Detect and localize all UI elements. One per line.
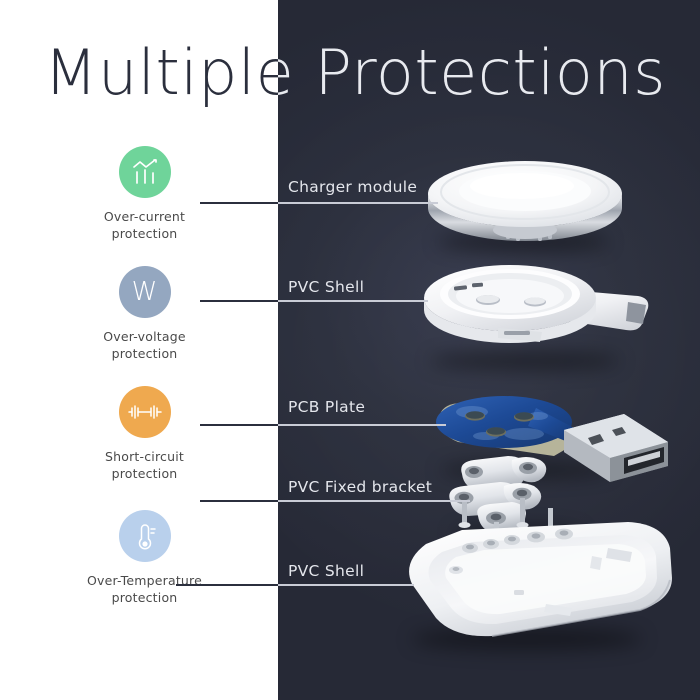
callout-pvc-shell-top: PVC Shell	[288, 278, 364, 296]
connector-line-1-left	[200, 202, 278, 204]
feature-label: Short-circuit protection	[62, 448, 227, 482]
callout-pvc-fixed-bracket: PVC Fixed bracket	[288, 478, 432, 496]
connector-line-2-left	[200, 300, 278, 302]
feature-label: Over-current protection	[62, 208, 227, 242]
connector-line-1-right	[278, 202, 438, 204]
product-infographic: Multiple Protections Multiple Protection…	[0, 0, 700, 700]
callout-pcb-plate: PCB Plate	[288, 398, 365, 416]
charger-module	[410, 142, 640, 252]
feature-over-temperature[interactable]: Over-Temperature protection	[62, 510, 227, 606]
connector-line-5-right	[278, 584, 414, 586]
pvc-shell-top	[402, 252, 662, 367]
feature-short-circuit[interactable]: Short-circuit protection	[62, 386, 227, 482]
connector-line-2-right	[278, 300, 428, 302]
connector-line-4-left	[200, 500, 278, 502]
connector-line-3-left	[200, 424, 278, 426]
feature-label: Over-voltage protection	[62, 328, 227, 362]
bar-chart-trend-icon	[119, 146, 171, 198]
thermometer-icon	[119, 510, 171, 562]
feature-label: Over-Temperature protection	[62, 572, 227, 606]
callout-charger-module: Charger module	[288, 178, 417, 196]
watt-glyph: W	[132, 279, 158, 305]
pvc-shell-bottom	[396, 518, 686, 648]
connector-line-3-right	[278, 424, 446, 426]
feature-over-voltage[interactable]: W Over-voltage protection	[62, 266, 227, 362]
feature-over-current[interactable]: Over-current protection	[62, 146, 227, 242]
resistor-circuit-icon	[119, 386, 171, 438]
connector-line-4-right	[278, 500, 470, 502]
connector-line-5-left	[176, 584, 278, 586]
page-title: Multiple Protections Multiple Protection…	[0, 36, 700, 110]
watt-letter-icon: W	[119, 266, 171, 318]
callout-pvc-shell-bottom: PVC Shell	[288, 562, 364, 580]
